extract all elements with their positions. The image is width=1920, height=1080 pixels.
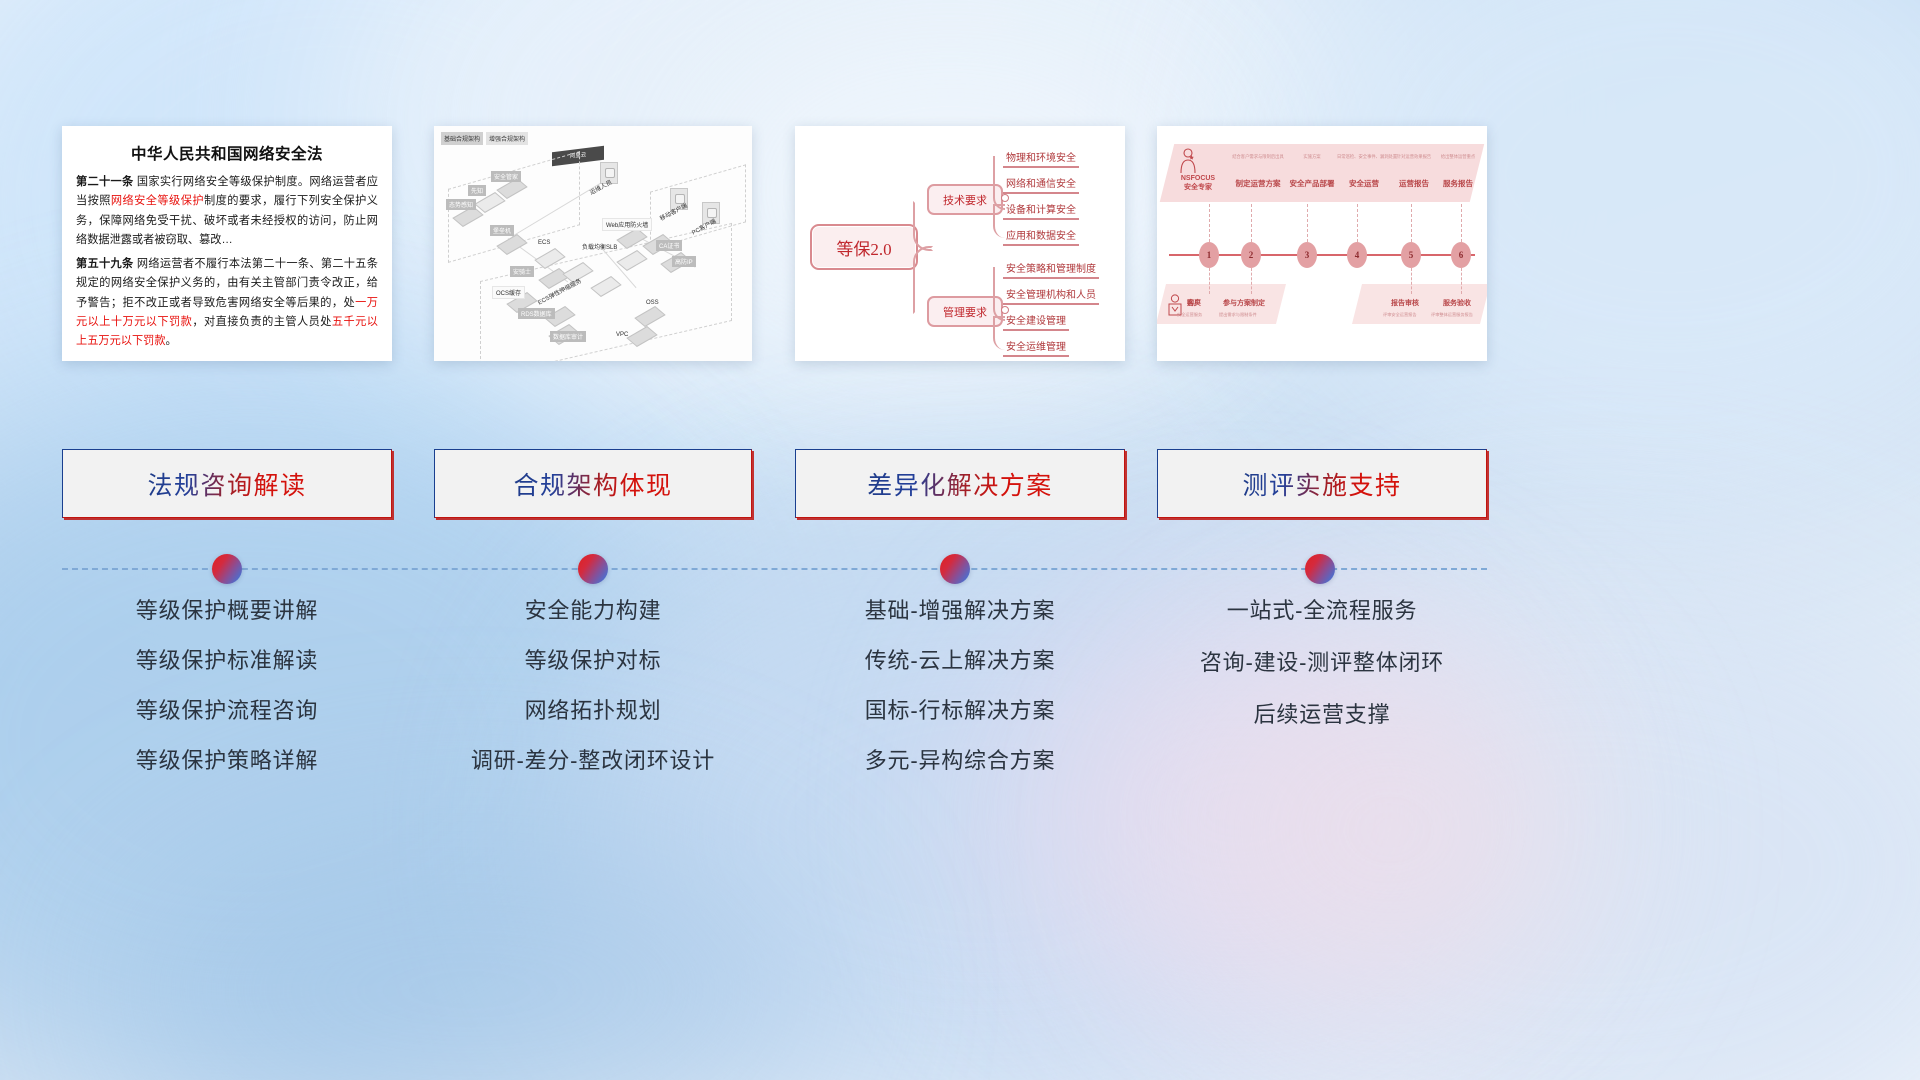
nsfocus-bottom-1-title: 购买 (1187, 298, 1201, 308)
nsfocus-step-2-title: 安全产品部署 (1285, 178, 1339, 189)
nsfocus-bottom-2-sub: 提出需求与限制条件 (1219, 312, 1257, 318)
section-heading-box-4[interactable]: 测评实施支持 (1157, 449, 1487, 518)
mindmap-branch-technical[interactable]: 技术要求 (927, 184, 1003, 215)
architecture-label-anti-ddos-ip: 高防IP (672, 256, 696, 267)
card-cloud-architecture[interactable]: 基础合规架构 增强合规架构 阿里云 态势感知 先知 安全管 (434, 126, 752, 361)
nsfocus-tick-2 (1251, 204, 1252, 242)
mindmap-leaf-policy-system[interactable]: 安全策略和管理制度 (1003, 260, 1099, 279)
nsfocus-step-2-sub: 实施方案 (1285, 154, 1339, 160)
card-cybersecurity-law[interactable]: 中华人民共和国网络安全法 第二十一条 国家实行网络安全等级保护制度。网络运营者应… (62, 126, 392, 361)
nsfocus-step-5-sub: 给出整体运营重点 (1431, 154, 1485, 160)
section-heading-label-1: 法规咨询解读 (147, 466, 306, 502)
architecture-diagram: 基础合规架构 增强合规架构 阿里云 态势感知 先知 安全管 (434, 126, 752, 361)
mindmap-leaf-network-comm[interactable]: 网络和通信安全 (1003, 175, 1079, 194)
list-item: 基础-增强解决方案 (795, 600, 1125, 622)
nsfocus-tick-1 (1209, 204, 1210, 242)
architecture-label-situational-awareness: 态势感知 (446, 199, 476, 210)
section-list-2: 安全能力构建 等级保护对标 网络拓扑规划 调研-差分-整改闭环设计 (434, 600, 752, 800)
mindmap-connector-management-lower (993, 316, 1005, 350)
mindmap-leaf-ops-mgmt[interactable]: 安全运维管理 (1003, 338, 1069, 357)
nsfocus-tick-3 (1307, 204, 1308, 242)
law-article-59: 第五十九条 网络运营者不履行本法第二十一条、第二十五条规定的网络安全保护义务的，… (76, 255, 378, 351)
list-item: 等级保护标准解读 (62, 650, 392, 672)
law-article-21-highlight: 网络安全等级保护 (111, 195, 204, 207)
section-heading-label-3: 差异化解决方案 (867, 466, 1053, 502)
mindmap-leaf-construction-mgmt[interactable]: 安全建设管理 (1003, 312, 1069, 331)
nsfocus-tick-6 (1461, 204, 1462, 242)
law-document: 中华人民共和国网络安全法 第二十一条 国家实行网络安全等级保护制度。网络运营者应… (62, 126, 392, 361)
nsfocus-tick-bottom-2 (1251, 268, 1252, 294)
list-item: 等级保护策略详解 (62, 750, 392, 772)
architecture-label-vpc: VPC (616, 332, 628, 338)
architecture-label-anqishi: 安骑士 (510, 266, 534, 277)
architecture-tab-enhanced[interactable]: 增强合规架构 (486, 132, 528, 145)
nsfocus-node-4[interactable]: 4 (1347, 242, 1367, 268)
nsfocus-bottom-4-sub: 评审整体运营服务报告 (1431, 312, 1473, 318)
nsfocus-step-1-title: 制定运营方案 (1231, 178, 1285, 189)
list-item: 网络拓扑规划 (434, 700, 752, 722)
mindmap-leaf-device-compute[interactable]: 设备和计算安全 (1003, 201, 1079, 220)
section-heading-row: 法规咨询解读 合规架构体现 差异化解决方案 测评实施支持 (0, 449, 1920, 518)
nsfocus-step-3-title: 安全运营 (1337, 178, 1391, 189)
nsfocus-bottom-3-title: 报告审核 (1391, 298, 1419, 308)
architecture-label-oss: OSS (646, 300, 659, 306)
mindmap-branch-management[interactable]: 管理要求 (927, 296, 1003, 327)
mindmap: 等保2.0 技术要求 管理要求 物理和环境安全 网络和通信安全 设备和计算安全 … (795, 126, 1125, 361)
list-item: 咨询-建设-测评整体闭环 (1157, 652, 1487, 674)
law-article-21-label: 第二十一条 (76, 176, 133, 188)
list-item: 后续运营支撑 (1157, 704, 1487, 726)
nsfocus-tick-4 (1357, 204, 1358, 242)
law-title: 中华人民共和国网络安全法 (76, 142, 378, 164)
architecture-label-rds: RDS数据库 (518, 308, 555, 319)
nsfocus-node-5[interactable]: 5 (1401, 242, 1421, 268)
nsfocus-tick-bottom-4 (1461, 268, 1462, 294)
law-article-59-text-b: ，对直接负责的主管人员处 (192, 316, 332, 328)
section-list-4: 一站式-全流程服务 咨询-建设-测评整体闭环 后续运营支撑 (1157, 600, 1487, 756)
law-article-59-label: 第五十九条 (76, 258, 133, 270)
section-heading-label-4: 测评实施支持 (1242, 466, 1401, 502)
card-mindmap-dengbao[interactable]: 等保2.0 技术要求 管理要求 物理和环境安全 网络和通信安全 设备和计算安全 … (795, 126, 1125, 361)
list-item: 等级保护流程咨询 (62, 700, 392, 722)
mindmap-connector-technical-lower (993, 204, 1005, 238)
timeline-track (0, 554, 1920, 590)
nsfocus-node-6[interactable]: 6 (1451, 242, 1471, 268)
architecture-label-ecs: ECS (538, 240, 550, 246)
timeline-dot-2[interactable] (578, 554, 608, 584)
nsfocus-brand-line-1: NSFOCUS (1171, 174, 1225, 183)
architecture-label-security-butler: 安全管家 (491, 171, 521, 182)
architecture-tabs: 基础合规架构 增强合规架构 (441, 132, 528, 145)
architecture-tab-basic[interactable]: 基础合规架构 (441, 132, 483, 145)
mindmap-connector-technical-upper (993, 156, 1005, 210)
expert-person-icon (1179, 148, 1197, 174)
law-article-59-text-c: 。 (166, 335, 177, 347)
mindmap-leaf-app-data[interactable]: 应用和数据安全 (1003, 227, 1079, 246)
list-item: 调研-差分-整改闭环设计 (434, 750, 752, 772)
section-heading-box-1[interactable]: 法规咨询解读 (62, 449, 392, 518)
architecture-label-ocs: OCS缓存 (492, 286, 525, 299)
architecture-label-bastion: 堡垒机 (490, 225, 514, 236)
nsfocus-bottom-2-title: 参与方案制定 (1223, 298, 1265, 308)
architecture-label-xianzhi: 先知 (468, 185, 486, 196)
nsfocus-step-5-title: 服务报告 (1431, 178, 1485, 189)
architecture-label-ca: CA证书 (656, 240, 682, 251)
architecture-label-slb: 负载均衡SLB (582, 242, 617, 251)
section-list-3: 基础-增强解决方案 传统-云上解决方案 国标-行标解决方案 多元-异构综合方案 (795, 600, 1125, 800)
timeline-dashed-line (62, 568, 1487, 570)
mindmap-connector-management-upper (993, 267, 1005, 321)
nsfocus-step-3-sub: 日常巡检、安全事件、漏洞处置 (1337, 154, 1391, 160)
list-item: 一站式-全流程服务 (1157, 600, 1487, 622)
list-item: 等级保护概要讲解 (62, 600, 392, 622)
law-article-21: 第二十一条 国家实行网络安全等级保护制度。网络运营者应当按照网络安全等级保护制度… (76, 173, 378, 250)
nsfocus-step-1-sub: 结合客户需求与限制后出具 (1231, 154, 1285, 160)
section-list-1: 等级保护概要讲解 等级保护标准解读 等级保护流程咨询 等级保护策略详解 (62, 600, 392, 800)
nsfocus-timeline: NSFOCUS 安全专家 结合客户需求与限制后出具 制定运营方案 实施方案 安全… (1157, 126, 1487, 361)
nsfocus-bottom-3-sub: 评审安全运营报告 (1383, 312, 1417, 318)
nsfocus-tick-bottom-1 (1209, 268, 1210, 294)
thumbnail-card-row: 中华人民共和国网络安全法 第二十一条 国家实行网络安全等级保护制度。网络运营者应… (0, 126, 1920, 361)
section-heading-label-2: 合规架构体现 (513, 466, 672, 502)
timeline-dot-4[interactable] (1305, 554, 1335, 584)
section-heading-box-2[interactable]: 合规架构体现 (434, 449, 752, 518)
mindmap-root-node[interactable]: 等保2.0 (810, 224, 918, 270)
nsfocus-bottom-4-title: 服务验收 (1443, 298, 1471, 308)
nsfocus-node-3[interactable]: 3 (1297, 242, 1317, 268)
nsfocus-node-2[interactable]: 2 (1241, 242, 1261, 268)
list-item: 多元-异构综合方案 (795, 750, 1125, 772)
architecture-label-waf: Web应用防火墙 (602, 218, 652, 231)
mindmap-leaf-org-personnel[interactable]: 安全管理机构和人员 (1003, 286, 1099, 305)
timeline-dot-1[interactable] (212, 554, 242, 584)
architecture-label-db-audit: 数据库审计 (550, 331, 586, 342)
section-heading-box-3[interactable]: 差异化解决方案 (795, 449, 1125, 518)
list-item: 国标-行标解决方案 (795, 700, 1125, 722)
nsfocus-top-band (1160, 144, 1484, 202)
list-item: 安全能力构建 (434, 600, 752, 622)
mindmap-leaf-physical-env[interactable]: 物理和环境安全 (1003, 149, 1079, 168)
list-item: 等级保护对标 (434, 650, 752, 672)
nsfocus-tick-bottom-3 (1411, 268, 1412, 294)
list-item: 传统-云上解决方案 (795, 650, 1125, 672)
nsfocus-brand-line-2: 安全专家 (1171, 183, 1225, 192)
timeline-dot-3[interactable] (940, 554, 970, 584)
card-nsfocus-timeline[interactable]: NSFOCUS 安全专家 结合客户需求与限制后出具 制定运营方案 实施方案 安全… (1157, 126, 1487, 361)
nsfocus-brand: NSFOCUS 安全专家 (1171, 174, 1225, 193)
nsfocus-tick-5 (1411, 204, 1412, 242)
nsfocus-node-1[interactable]: 1 (1199, 242, 1219, 268)
nsfocus-bottom-1-sub: 安全运营服务 (1177, 312, 1202, 318)
